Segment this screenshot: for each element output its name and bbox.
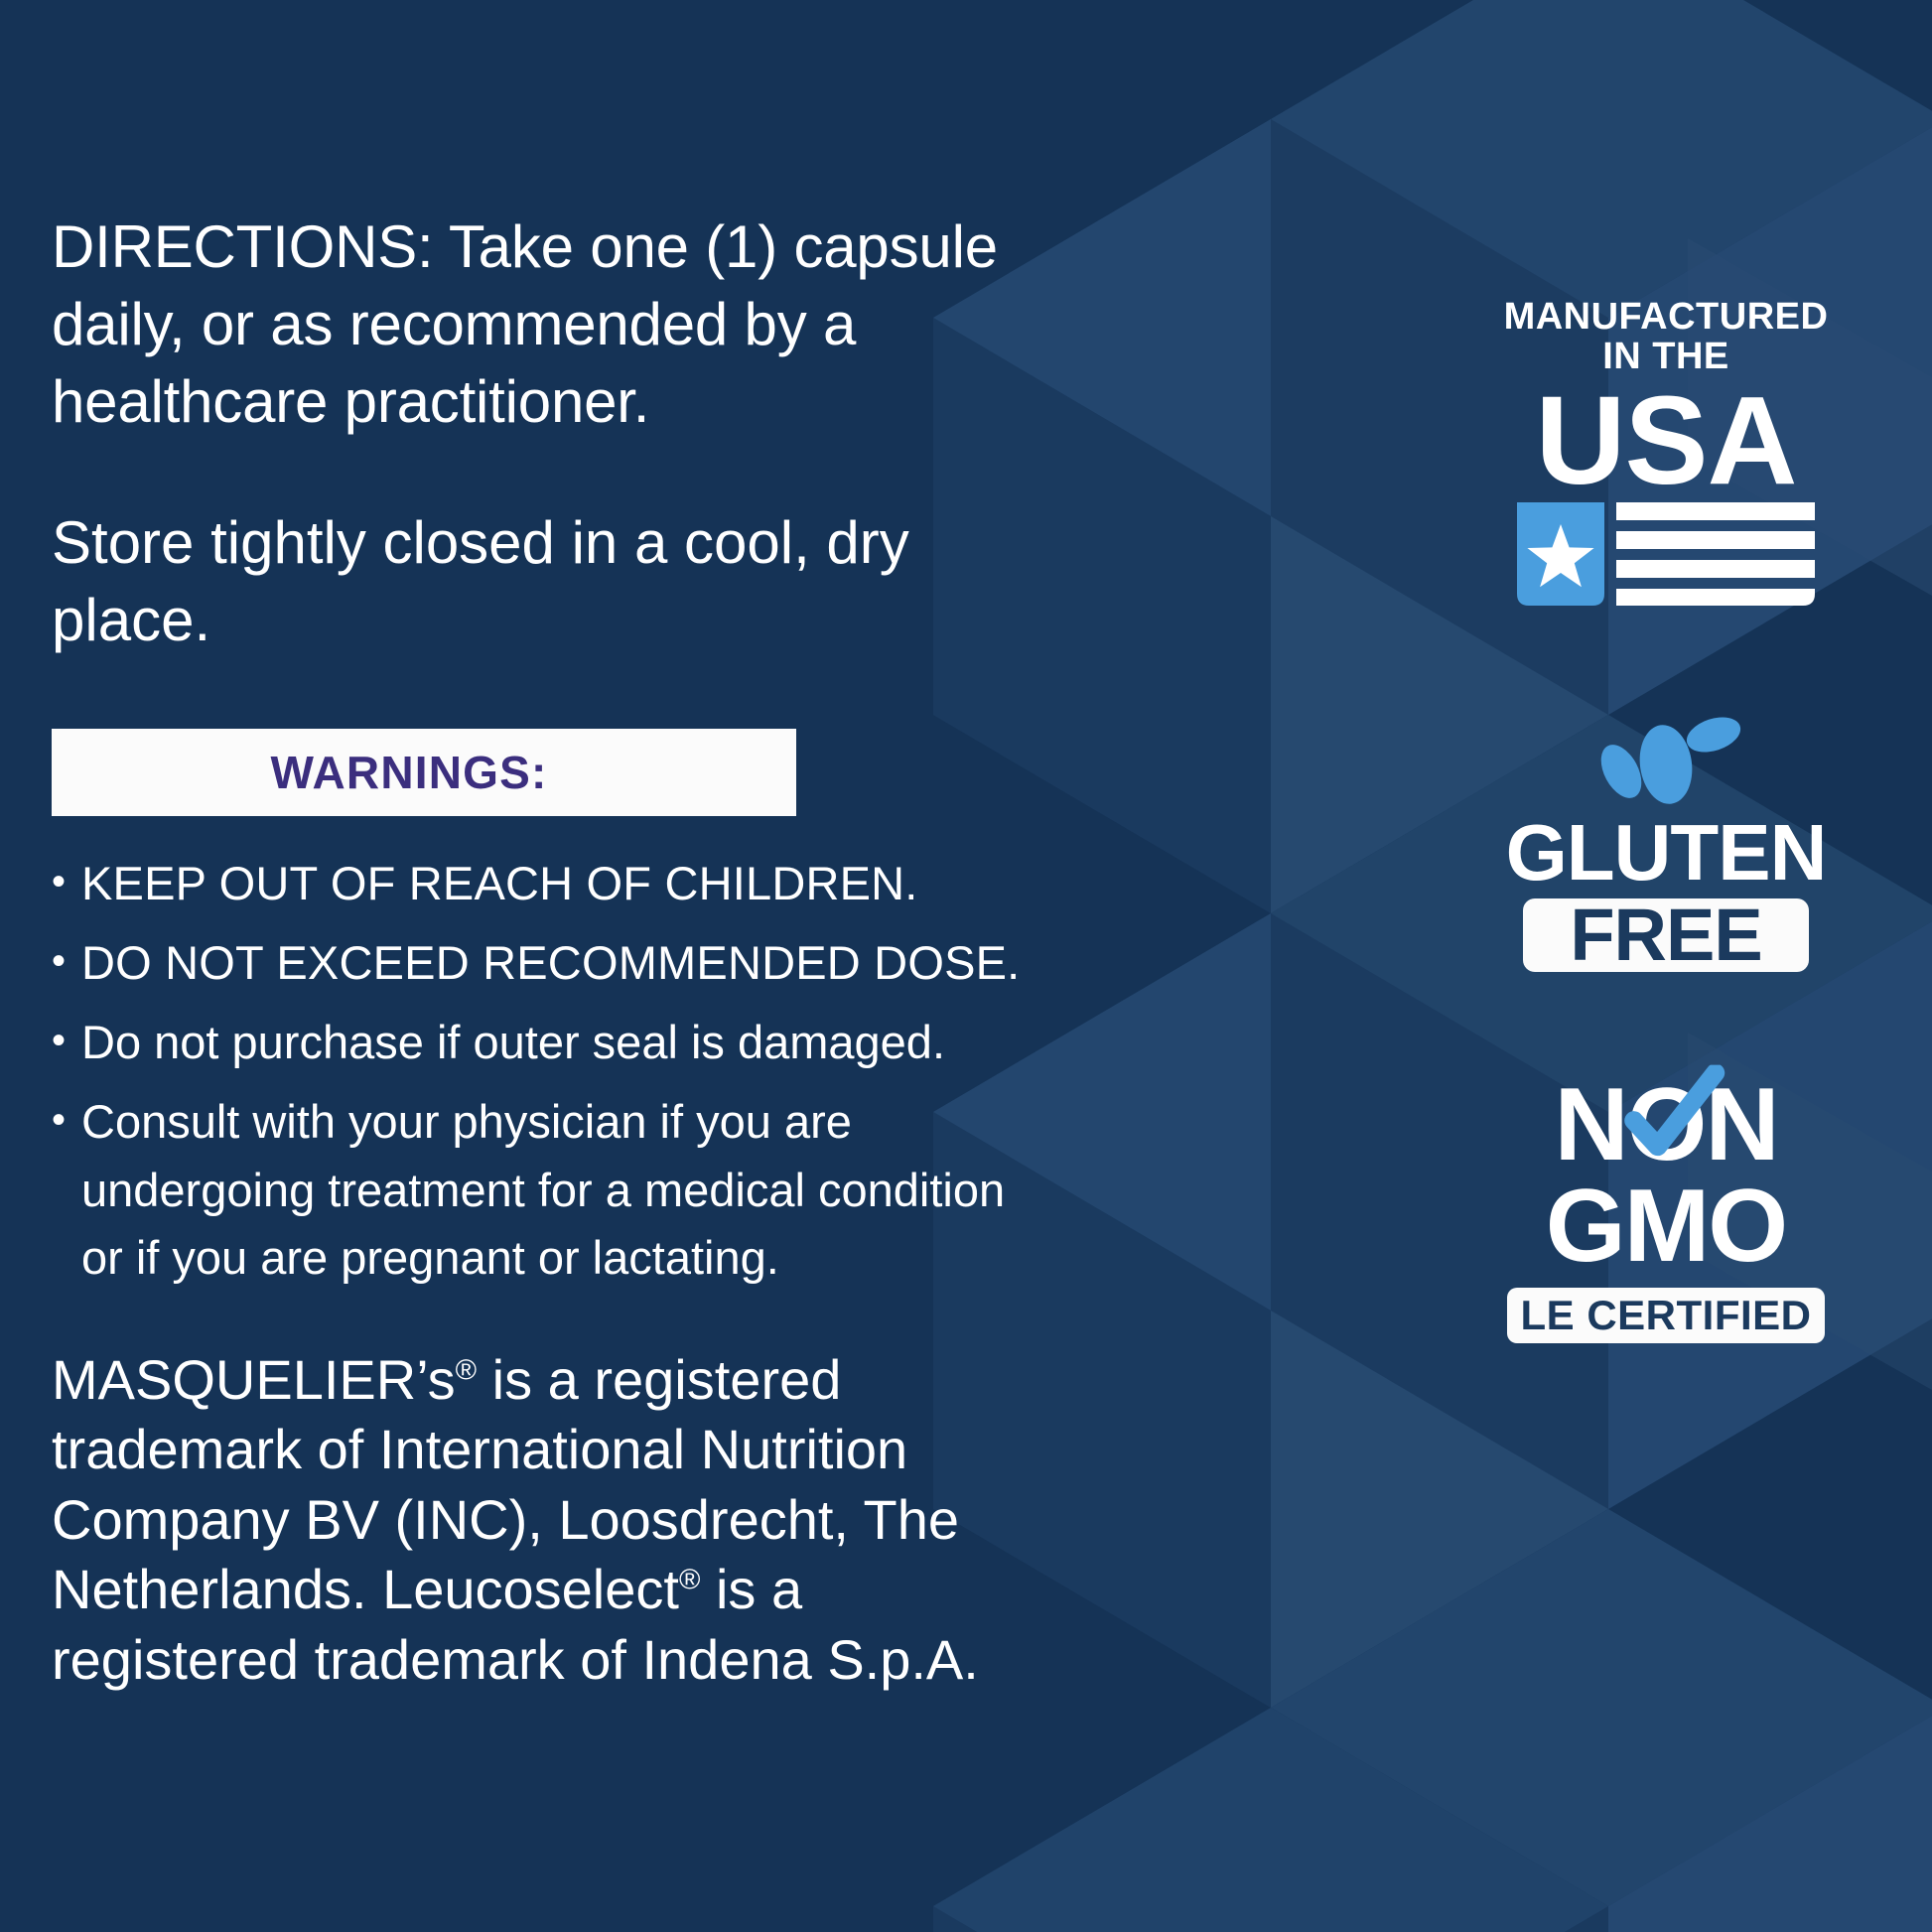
certification-badges-column: MANUFACTURED IN THE USA bbox=[1457, 298, 1874, 1343]
non-word-row: NON bbox=[1487, 1071, 1845, 1178]
registered-mark-icon: ® bbox=[679, 1565, 700, 1596]
warnings-header-box: WARNINGS: bbox=[52, 729, 796, 816]
free-word: FREE bbox=[1570, 898, 1761, 972]
warnings-list: • KEEP OUT OF REACH OF CHILDREN. • DO NO… bbox=[52, 850, 1054, 1292]
bullet-icon: • bbox=[52, 929, 81, 993]
warning-item-text: Consult with your physician if you are u… bbox=[81, 1088, 1054, 1291]
warning-list-item: • Consult with your physician if you are… bbox=[52, 1088, 1054, 1291]
trademark-paragraph: MASQUELIER’s® is a registered trademark … bbox=[52, 1345, 1054, 1696]
warning-list-item: • DO NOT EXCEED RECOMMENDED DOSE. bbox=[52, 929, 1054, 997]
registered-mark-icon: ® bbox=[456, 1354, 477, 1386]
warning-item-text: DO NOT EXCEED RECOMMENDED DOSE. bbox=[81, 929, 1054, 997]
warnings-title: WARNINGS: bbox=[270, 746, 547, 799]
storage-paragraph: Store tightly closed in a cool, dry plac… bbox=[52, 504, 1054, 659]
gmo-word: GMO bbox=[1487, 1174, 1845, 1278]
warning-item-text: Do not purchase if outer seal is damaged… bbox=[81, 1009, 1054, 1076]
warning-item-text: KEEP OUT OF REACH OF CHILDREN. bbox=[81, 850, 1054, 917]
wheat-grains-icon bbox=[1567, 710, 1765, 804]
gluten-free-badge: GLUTEN FREE bbox=[1492, 710, 1840, 972]
supplement-label-panel: DIRECTIONS: Take one (1) capsule daily, … bbox=[0, 0, 1932, 1932]
label-text-column: DIRECTIONS: Take one (1) capsule daily, … bbox=[52, 149, 1054, 1751]
manufactured-in-usa-badge: MANUFACTURED IN THE USA bbox=[1492, 298, 1840, 615]
bullet-icon: • bbox=[52, 1088, 81, 1152]
non-gmo-badge: NON GMO LE CERTIFIED bbox=[1487, 1071, 1845, 1343]
usa-badge-line-1: MANUFACTURED bbox=[1492, 298, 1840, 336]
free-pill: FREE bbox=[1523, 898, 1809, 972]
warning-list-item: • Do not purchase if outer seal is damag… bbox=[52, 1009, 1054, 1076]
bullet-icon: • bbox=[52, 1009, 81, 1072]
le-certified-pill: LE CERTIFIED bbox=[1507, 1288, 1825, 1343]
usa-flag-icon bbox=[1517, 502, 1815, 610]
directions-paragraph: DIRECTIONS: Take one (1) capsule daily, … bbox=[52, 208, 1054, 441]
gluten-word: GLUTEN bbox=[1492, 813, 1840, 893]
warning-list-item: • KEEP OUT OF REACH OF CHILDREN. bbox=[52, 850, 1054, 917]
usa-badge-word: USA bbox=[1492, 383, 1840, 498]
bullet-icon: • bbox=[52, 850, 81, 913]
le-certified-text: LE CERTIFIED bbox=[1520, 1295, 1811, 1336]
trademark-brand-masqueliers: MASQUELIER’s bbox=[52, 1348, 456, 1411]
non-word: NON bbox=[1554, 1073, 1777, 1176]
